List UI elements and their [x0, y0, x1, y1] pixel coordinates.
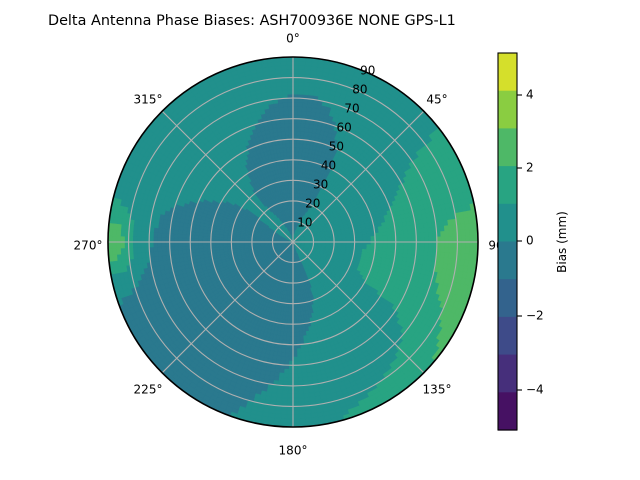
contour-cell: [449, 247, 453, 253]
contour-cell: [470, 242, 474, 248]
contour-cell: [429, 237, 433, 242]
contour-cell: [298, 377, 303, 381]
contour-cell: [298, 82, 304, 86]
contour-cell: [289, 361, 293, 365]
contour-cell: [293, 115, 297, 119]
contour-cell: [408, 234, 412, 238]
contour-cell: [400, 238, 404, 242]
contour-cell: [297, 131, 301, 135]
contour-cell: [449, 231, 453, 237]
contour-cell: [297, 357, 301, 361]
contour-cell: [293, 78, 299, 82]
contour-cell: [424, 237, 428, 242]
contour-cell: [282, 390, 287, 394]
contour-cell: [387, 235, 391, 239]
contour-cell: [287, 402, 293, 406]
contour-cell: [441, 231, 445, 236]
contour-cell: [445, 237, 449, 242]
contour-cell: [289, 365, 293, 369]
contour-cell: [408, 246, 412, 250]
contour-cell: [424, 247, 428, 252]
contour-cell: [297, 111, 302, 115]
contour-cell: [293, 345, 297, 349]
contour-cell: [400, 234, 404, 238]
contour-cell: [287, 419, 293, 423]
contour-cell: [299, 410, 305, 414]
contour-cell: [453, 236, 457, 242]
contour-cell: [420, 237, 424, 242]
contour-cell: [293, 410, 299, 414]
contour-cell: [433, 237, 437, 242]
figure-canvas: Delta Antenna Phase Biases: ASH700936E N…: [0, 0, 640, 480]
contour-cell: [404, 234, 408, 238]
contour-cell: [293, 349, 297, 353]
contour-cell: [408, 242, 412, 246]
contour-cell: [281, 410, 287, 414]
contour-cell: [298, 86, 304, 90]
contour-cell: [428, 247, 432, 252]
contour-cell: [428, 232, 432, 237]
contour-cell: [289, 353, 293, 357]
contour-cell: [288, 394, 293, 398]
contour-cell: [424, 233, 428, 238]
page-title: Delta Antenna Phase Biases: ASH700936E N…: [48, 13, 456, 29]
contour-cell: [433, 242, 437, 247]
contour-cell: [299, 61, 305, 65]
contour-cell: [416, 242, 420, 246]
contour-cell: [461, 248, 465, 254]
contour-cell: [404, 238, 408, 242]
contour-cell: [461, 242, 465, 248]
contour-cell: [288, 378, 293, 382]
contour-cell: [293, 390, 298, 394]
contour-cell: [412, 242, 416, 246]
contour-cell: [293, 365, 297, 369]
contour-cell: [296, 328, 299, 332]
contour-cell: [293, 415, 299, 419]
contour-cell: [293, 65, 299, 69]
contour-cell: [293, 369, 298, 373]
contour-cell: [293, 394, 298, 398]
contour-cell: [289, 345, 293, 349]
contour-cell: [461, 230, 465, 236]
contour-cell: [469, 248, 473, 254]
contour-cell: [293, 378, 298, 382]
contour-cell: [293, 110, 298, 114]
contour-cell: [293, 123, 297, 127]
contour-cell: [296, 336, 300, 340]
contour-cell: [407, 230, 411, 234]
contour-cell: [301, 356, 305, 360]
contour-cell: [298, 90, 303, 94]
contour-cell: [466, 236, 470, 242]
contour-cell: [293, 127, 297, 131]
contour-cell: [293, 353, 297, 357]
contour-cell: [441, 247, 445, 252]
contour-cell: [379, 236, 383, 239]
contour-cell: [293, 402, 299, 406]
contour-cell: [293, 361, 297, 365]
contour-cell: [445, 242, 449, 247]
contour-cell: [461, 236, 465, 242]
contour-cell: [293, 398, 299, 402]
contour-cell: [424, 242, 428, 247]
contour-cell: [297, 349, 301, 353]
contour-cell: [293, 135, 297, 139]
contour-cell: [298, 398, 304, 402]
contour-cell: [293, 102, 298, 106]
contour-cell: [288, 382, 293, 386]
contour-cell: [298, 106, 303, 110]
contour-cell: [293, 106, 298, 110]
contour-cell: [400, 242, 404, 246]
contour-cell: [449, 242, 453, 248]
contour-cell: [288, 373, 293, 377]
contour-cell: [293, 373, 298, 377]
contour-cell: [297, 127, 301, 131]
contour-cell: [293, 61, 299, 65]
contour-cell: [281, 414, 287, 418]
contour-cell: [287, 410, 293, 414]
contour-cell: [445, 231, 449, 237]
contour-cell: [429, 242, 433, 247]
contour-cell: [282, 394, 288, 398]
contour-cell: [299, 69, 305, 73]
contour-cell: [470, 236, 474, 242]
contour-cell: [293, 69, 299, 73]
contour-cell: [284, 369, 289, 373]
contour-cell: [466, 242, 470, 248]
contour-cell: [285, 349, 289, 353]
contour-cell: [287, 398, 293, 402]
contour-cell: [280, 418, 286, 422]
contour-cell: [420, 246, 424, 251]
contour-cell: [283, 377, 288, 381]
contour-cell: [453, 242, 457, 248]
contour-cell: [441, 237, 445, 242]
contour-cell: [288, 390, 293, 394]
contour-cell: [396, 238, 400, 242]
contour-cell: [299, 418, 305, 422]
contour-cell: [400, 246, 404, 250]
contour-cell: [300, 348, 304, 352]
contour-cell: [293, 98, 298, 102]
contour-cell: [293, 419, 299, 423]
contour-cell: [420, 233, 424, 238]
contour-cell: [445, 247, 449, 253]
contour-cell: [297, 123, 301, 127]
contour-cell: [416, 238, 420, 242]
contour-cell: [298, 394, 304, 398]
contour-cell: [404, 242, 408, 246]
contour-cell: [396, 242, 400, 246]
contour-cell: [469, 229, 473, 235]
contour-cell: [293, 382, 298, 386]
contour-cell: [465, 230, 469, 236]
contour-cell: [293, 119, 297, 123]
matplotlib-figure: Delta Antenna Phase Biases: ASH700936E N…: [0, 0, 640, 480]
contour-cell: [285, 357, 289, 361]
contour-cell: [420, 242, 424, 247]
contour-cell: [383, 235, 387, 238]
contour-cell: [297, 369, 302, 373]
contour-cell: [288, 369, 293, 373]
contour-cell: [403, 230, 407, 234]
contour-cell: [293, 357, 297, 361]
contour-cell: [293, 90, 298, 94]
contour-cell: [289, 349, 293, 353]
contour-cell: [301, 352, 305, 356]
contour-cell: [299, 414, 305, 418]
contour-cell: [298, 373, 303, 377]
contour-cell: [282, 398, 288, 402]
contour-cell: [449, 236, 453, 242]
contour-cell: [298, 102, 303, 106]
contour-cell: [293, 82, 299, 86]
contour-cell: [285, 353, 289, 357]
contour-cell: [293, 86, 298, 90]
contour-cell: [287, 415, 293, 419]
contour-cell: [293, 131, 297, 135]
contour-cell: [404, 246, 408, 250]
contour-cell: [299, 65, 305, 69]
contour-cell: [298, 390, 303, 394]
contour-cell: [412, 238, 416, 242]
contour-cell: [284, 373, 289, 377]
contour-cell: [408, 238, 412, 242]
contour-cell: [289, 357, 293, 361]
contour-cell: [296, 332, 299, 336]
contour-cell: [399, 230, 403, 234]
contour-cell: [465, 248, 469, 254]
contour-cell: [441, 242, 445, 247]
contour-cell: [297, 353, 301, 357]
